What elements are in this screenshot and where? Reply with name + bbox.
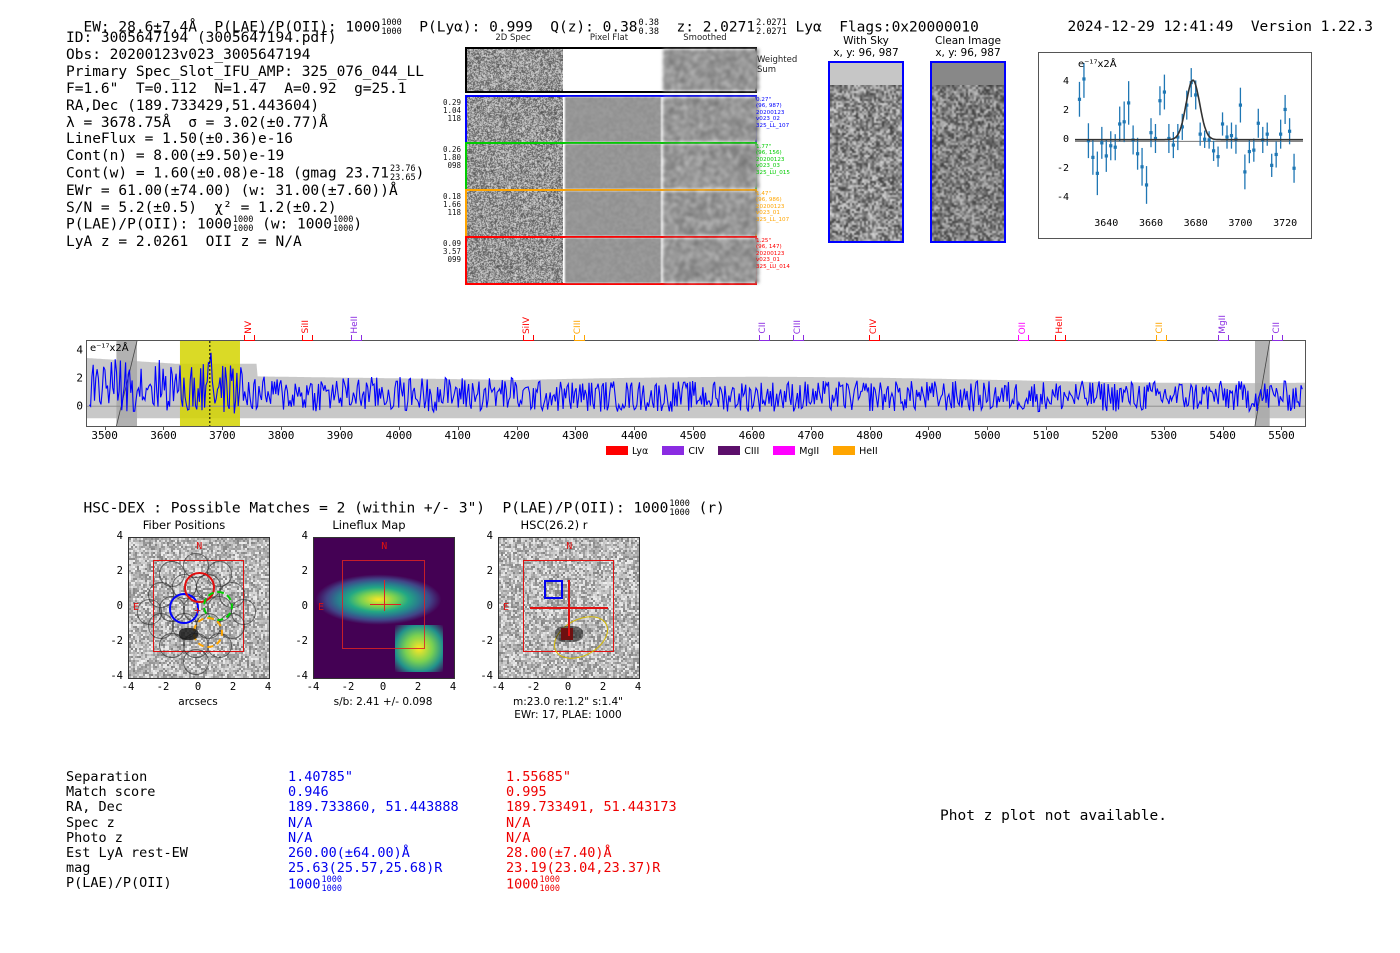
fullspec-xtick-5100: 5100 (1033, 429, 1060, 442)
linefit-xtick-3700: 3700 (1224, 218, 1256, 229)
legend-item-MgII: MgII (773, 446, 819, 457)
cutout-title-1: Clean Imagex, y: 96, 987 (918, 35, 1018, 59)
info-plae: P(LAE)/P(OII): 100010001000 (w: 10001000… (66, 216, 424, 233)
emission-line-label-MgII-11: MgII (1218, 315, 1228, 334)
match-blue-photo_z: N/A (288, 831, 312, 846)
legend-swatch-CIV (662, 446, 684, 455)
emission-line-label-CIII-4: CIII (573, 320, 583, 334)
emission-line-label-CII-10: CII (1155, 322, 1165, 334)
full-spectrum-panel: 0243500360037003800390040004100420043004… (66, 300, 1314, 460)
linefit-ytick-4: 4 (1045, 76, 1069, 87)
blue-match-marker (544, 580, 563, 599)
emission-line-tick-7 (869, 335, 880, 341)
imaging-panel-title-2: HSC(26.2) r (470, 518, 638, 532)
match-row-label-0: Separation (66, 770, 281, 785)
fullspec-xtickmark-4600 (752, 426, 753, 430)
spec2d-fiber-2-left-2: 118 (425, 209, 461, 217)
legend-swatch-CIII (718, 446, 740, 455)
emission-line-tick-1 (302, 335, 313, 341)
match-row-label-4: Photo z (66, 831, 281, 846)
legend-item-HeII: HeII (833, 446, 878, 457)
fullspec-xtick-4000: 4000 (386, 429, 413, 442)
match-blue-est_lya_ew: 260.00(±64.00)Å (288, 846, 410, 861)
info-cont-n: Cont(n) = 8.00(±9.50)e-19 (66, 148, 424, 165)
imaging-panels-row: Fiber Positions+NE-4-4-2-2002244arcsecsL… (60, 515, 680, 735)
emission-line-tick-12 (1272, 335, 1283, 341)
hsc-dex-summary: HSC-DEX : Possible Matches = 2 (within +… (66, 484, 725, 517)
imaging-panel-0[interactable]: Fiber Positions+NE-4-4-2-2002244arcsecs (100, 537, 280, 732)
fullspec-unit-label: e⁻¹⁷x2Å (90, 343, 129, 354)
match-red-plae: 100010001000 (506, 876, 560, 893)
imaging-ytick-2-1: -2 (470, 635, 493, 647)
imaging-xtick-0-4: 4 (256, 681, 280, 693)
emission-line-tick-0 (244, 335, 255, 341)
info-sn-chi2: S/N = 5.2(±0.5) χ² = 1.2(±0.2) (66, 200, 424, 217)
header-z-suffix: Lyα (796, 20, 822, 36)
cutout-title-line1-0: With Sky (816, 35, 916, 47)
linefit-unit-label: e⁻¹⁷x2Å (1078, 59, 1117, 70)
legend-swatch-MgII (773, 446, 795, 455)
spec2d-fiber-3-left-2: 099 (425, 256, 461, 264)
linefit-ytick-0: 0 (1045, 134, 1069, 145)
info-plae-pre: P(LAE)/P(OII): 1000 (66, 217, 232, 233)
info-primary-spec-slot: Primary Spec_Slot_IFU_AMP: 325_076_044_L… (66, 64, 424, 81)
imaging-panel-2[interactable]: HSC(26.2) rNE-4-4-2-2002244m:23.0 re:1.2… (470, 537, 650, 732)
imaging-panel-title-1: Lineflux Map (285, 518, 453, 532)
legend-swatch-HeII (833, 446, 855, 455)
hsc-summary-post: (r) (690, 501, 725, 517)
fullspec-xtickmark-3600 (163, 426, 164, 430)
match-red-plae-bot: 1000 (540, 884, 560, 894)
fullspec-xtickmark-4200 (517, 426, 518, 430)
weighted-sum-label: Weighted Sum (757, 55, 817, 75)
emission-line-tick-10 (1156, 335, 1167, 341)
emission-line-label-CIII-6: CIII (793, 320, 803, 334)
imaging-xtick-0-3: 2 (221, 681, 245, 693)
imaging-xtick-1-1: -2 (336, 681, 360, 693)
fullspec-xtickmark-5200 (1105, 426, 1106, 430)
emission-line-tick-11 (1218, 335, 1229, 341)
info-lambda-sigma: λ = 3678.75Å σ = 3.02(±0.77)Å (66, 115, 424, 132)
legend-item-CIV: CIV (662, 446, 704, 457)
source-info-block: ID: 3005647194 (3005647194.pdf) Obs: 202… (66, 30, 424, 251)
match-red-mag: 23.19(23.04,23.37)R (506, 861, 660, 876)
fullspec-xtick-4400: 4400 (621, 429, 648, 442)
emission-line-tick-9 (1055, 335, 1066, 341)
fullspec-xtick-3900: 3900 (327, 429, 354, 442)
legend-label-MgII: MgII (799, 446, 819, 457)
info-radec: RA,Dec (189.733429,51.443604) (66, 98, 424, 115)
spec2d-fiber-0-meta-4: 325_LL_107 (756, 123, 812, 129)
imaging-ytick-1-3: 2 (285, 565, 308, 577)
legend-item-Lyα: Lyα (606, 446, 648, 457)
emission-line-label-SiIV-3: SiIV (522, 317, 532, 334)
match-blue-match_score: 0.946 (288, 785, 329, 800)
match-row-label-6: mag (66, 861, 281, 876)
info-cont-w: Cont(w) = 1.60(±0.08)e-18 (gmag 23.7123.… (66, 165, 424, 182)
info-plae-post: ) (353, 217, 362, 233)
fullspec-xtick-4200: 4200 (503, 429, 530, 442)
imaging-ytick-0-2: 0 (100, 600, 123, 612)
info-ewr: EWr = 61.00(±74.00) (w: 31.00(±7.60))Å (66, 183, 424, 200)
fullspec-xtick-3600: 3600 (150, 429, 177, 442)
imaging-panel-title-0: Fiber Positions (100, 518, 268, 532)
imaging-panel-image-2[interactable]: NE (498, 537, 640, 679)
spec2d-fiber-metadata-0: 0.27"(96, 987)20200123v023_02325_LL_107 (756, 97, 812, 129)
fullspec-xtickmark-4800 (870, 426, 871, 430)
spec2d-fiber-row-3 (465, 236, 757, 285)
emission-line-tick-4 (574, 335, 585, 341)
match-blue-radec: 189.733860, 51.443888 (288, 800, 459, 815)
compass-north-1: N (381, 541, 387, 552)
emission-line-label-HeII-9: HeII (1055, 316, 1065, 334)
match-blue-plae: 100010001000 (288, 876, 342, 893)
spec2d-column-title-1: Pixel Flat (569, 33, 649, 43)
info-cont-w-pre: Cont(w) = 1.60(±0.08)e-18 (gmag 23.71 (66, 166, 389, 182)
fullspec-xtickmark-5300 (1164, 426, 1165, 430)
header-timestamp-version: 2024-12-29 12:41:49 Version 1.22.3 (1050, 3, 1373, 35)
imaging-panel-image-1[interactable]: NE (313, 537, 455, 679)
linefit-svg (1039, 53, 1311, 238)
imaging-xtick-2-3: 2 (591, 681, 615, 693)
emission-line-label-CIV-7: CIV (869, 319, 879, 334)
imaging-panel-1[interactable]: Lineflux MapNE-4-4-2-2002244s/b: 2.41 +/… (285, 537, 465, 732)
spec2d-fiber-leftvals-2: 0.181.66118 (425, 193, 461, 218)
imaging-caption2-2: EWr: 17, PLAE: 1000 (478, 709, 658, 722)
emission-line-tick-3 (523, 335, 534, 341)
imaging-xtick-0-2: 0 (186, 681, 210, 693)
cutout-title-line1-1: Clean Image (918, 35, 1018, 47)
emission-line-tick-8 (1018, 335, 1029, 341)
imaging-caption1-2: m:23.0 re:1.2" s:1.4" (478, 696, 658, 709)
fullspec-xtick-5000: 5000 (974, 429, 1001, 442)
fullspec-xtick-4300: 4300 (562, 429, 589, 442)
legend-label-CIV: CIV (688, 446, 704, 457)
spec2d-fiber-2-meta-4: 325_LL_107 (756, 217, 812, 223)
spec2d-fiber-row-1 (465, 142, 757, 191)
emission-line-fit-chart: -4-202436403660368037003720e⁻¹⁷x2Å (1038, 52, 1312, 239)
fullspec-xtick-4500: 4500 (680, 429, 707, 442)
fullspec-xtickmark-3700 (222, 426, 223, 430)
header-z-frac-bot: 2.0271 (756, 27, 787, 37)
linefit-xtick-3680: 3680 (1180, 218, 1212, 229)
photoz-message: Phot z plot not available. (940, 808, 1167, 824)
linefit-xtick-3720: 3720 (1269, 218, 1301, 229)
match-red-photo_z: N/A (506, 831, 530, 846)
imaging-ytick-2-3: 2 (470, 565, 493, 577)
spec2d-fiber-metadata-1: 1.77"(96, 156)20200123v023_03325_LU_015 (756, 144, 812, 176)
fullspec-ytick-4: 4 (76, 343, 83, 356)
spec2d-weighted-sum-row (465, 47, 757, 93)
imaging-xtick-1-0: -4 (301, 681, 325, 693)
image-cutouts-panel: With Skyx, y: 96, 987Clean Imagex, y: 96… (820, 33, 1025, 253)
emission-line-label-SiII-1: SiII (301, 320, 311, 334)
emission-line-tick-2 (351, 335, 362, 341)
imaging-caption1-1: s/b: 2.41 +/- 0.098 (293, 696, 473, 709)
info-plae-frac2-bot: 1000 (333, 224, 353, 234)
linefit-ytick-2: 2 (1045, 105, 1069, 116)
spec2d-fiber-3-meta-4: 325_LU_014 (756, 264, 812, 270)
imaging-xtick-0-0: -4 (116, 681, 140, 693)
fullspec-xtickmark-5000 (987, 426, 988, 430)
compass-north-0: N (196, 541, 202, 552)
match-row-label-7: P(LAE)/P(OII) (66, 876, 281, 891)
info-lineflux: LineFlux = 1.50(±0.36)e-16 (66, 131, 424, 148)
match-red-est_lya_ew: 28.00(±7.40)Å (506, 846, 612, 861)
fullspec-xtick-4100: 4100 (444, 429, 471, 442)
legend-label-Lyα: Lyα (632, 446, 648, 457)
info-redshifts: LyA z = 2.0261 OII z = N/A (66, 234, 424, 251)
legend-label-CIII: CIII (744, 446, 759, 457)
full-spectrum-plot: 0243500360037003800390040004100420043004… (86, 340, 1306, 427)
imaging-ytick-2-4: 4 (470, 530, 493, 542)
imaging-xtick-1-4: 4 (441, 681, 465, 693)
imaging-xtick-1-2: 0 (371, 681, 395, 693)
info-id: ID: 3005647194 (3005647194.pdf) (66, 30, 424, 47)
fullspec-ytick-0: 0 (76, 400, 83, 413)
spec2d-fiber-leftvals-0: 0.291.04118 (425, 99, 461, 124)
fiber-circle-17 (137, 599, 163, 625)
fullspec-xtick-4600: 4600 (739, 429, 766, 442)
imaging-xtick-2-1: -2 (521, 681, 545, 693)
fullspec-xtickmark-4700 (811, 426, 812, 430)
imaging-xlabel-0: arcsecs (128, 696, 268, 709)
fullspec-xtickmark-5400 (1223, 426, 1224, 430)
cutout-title-0: With Skyx, y: 96, 987 (816, 35, 916, 59)
info-cont-w-frac-bot: 23.65 (390, 173, 416, 183)
imaging-ytick-0-4: 4 (100, 530, 123, 542)
fullspec-xtickmark-4000 (399, 426, 400, 430)
emission-line-label-OII-8: OII (1018, 322, 1028, 334)
version: Version 1.22.3 (1251, 19, 1373, 35)
fullspec-xtickmark-4500 (693, 426, 694, 430)
compass-east-2: E (503, 602, 509, 613)
match-blue-plae-bot: 1000 (322, 884, 342, 894)
fullspec-xtick-4700: 4700 (797, 429, 824, 442)
fullspec-xtickmark-3900 (340, 426, 341, 430)
match-blue-plae-value: 1000 (288, 877, 321, 893)
imaging-ytick-2-2: 0 (470, 600, 493, 612)
fullspec-xtick-5400: 5400 (1209, 429, 1236, 442)
cutout-coords-0: x, y: 96, 987 (816, 47, 916, 59)
fullspec-xtick-4900: 4900 (915, 429, 942, 442)
match-red-radec: 189.733491, 51.443173 (506, 800, 677, 815)
fullspec-xtick-5200: 5200 (1092, 429, 1119, 442)
fullspec-xtick-4800: 4800 (856, 429, 883, 442)
emission-line-label-CII-12: CII (1272, 322, 1282, 334)
imaging-ytick-0-1: -2 (100, 635, 123, 647)
fiber-circle-19 (183, 649, 209, 675)
emission-line-tick-5 (759, 335, 770, 341)
info-obs: Obs: 20200123v023_3005647194 (66, 47, 424, 64)
compass-north-2: N (566, 541, 572, 552)
fullspec-ytick-2: 2 (76, 371, 83, 384)
spec2d-fiber-0-left-2: 118 (425, 115, 461, 123)
fullspec-xtick-3700: 3700 (209, 429, 236, 442)
compass-east-1: E (318, 602, 324, 613)
fullspec-xtickmark-4400 (634, 426, 635, 430)
match-red-plae-value: 1000 (506, 877, 539, 893)
linefit-xtick-3640: 3640 (1090, 218, 1122, 229)
match-row-label-5: Est LyA rest-EW (66, 846, 281, 861)
info-cont-w-post: ) (416, 166, 425, 182)
spec2d-fiber-leftvals-1: 0.261.80098 (425, 146, 461, 171)
cutout-image-1 (930, 61, 1006, 243)
imaging-xtick-1-3: 2 (406, 681, 430, 693)
info-plae-mid: (w: 1000 (253, 217, 332, 233)
match-blue-separation: 1.40785" (288, 770, 353, 785)
source-marker: + (194, 605, 201, 616)
fiber-circle-18 (231, 599, 257, 625)
fullspec-xtickmark-4300 (575, 426, 576, 430)
fullspec-xtickmark-5500 (1281, 426, 1282, 430)
emission-line-tick-6 (793, 335, 804, 341)
legend-swatch-Lyα (606, 446, 628, 455)
info-plae-frac-bot: 1000 (233, 224, 253, 234)
spec2d-fiber-metadata-2: 1.47"(96, 986)20200123v023_01325_LL_107 (756, 191, 812, 223)
imaging-ytick-1-1: -2 (285, 635, 308, 647)
match-red-separation: 1.55685" (506, 770, 571, 785)
fullspec-xtickmark-4100 (458, 426, 459, 430)
full-spectrum-svg (87, 341, 1305, 426)
spec2d-fiber-leftvals-3: 0.093.57099 (425, 240, 461, 265)
match-row-label-3: Spec z (66, 816, 281, 831)
match-row-label-2: RA, Dec (66, 800, 281, 815)
emission-line-label-HeII-2: HeII (350, 316, 360, 334)
info-seeing-params: F=1.6" T=0.112 N=1.47 A=0.92 g=25.1 (66, 81, 424, 98)
two-d-spectra-panel: 2D SpecPixel FlatSmoothed Weighted Sum0.… (425, 33, 755, 253)
imaging-ytick-0-3: 2 (100, 565, 123, 577)
fullspec-xtick-5300: 5300 (1151, 429, 1178, 442)
match-blue-spec_z: N/A (288, 816, 312, 831)
compass-east-0: E (133, 602, 139, 613)
emission-line-label-CII-5: CII (758, 322, 768, 334)
emission-line-label-NV-0: NV (244, 321, 254, 334)
imaging-xtick-2-0: -4 (486, 681, 510, 693)
legend-label-HeII: HeII (859, 446, 878, 457)
spec2d-fiber-row-0 (465, 95, 757, 144)
linefit-ytick--4: -4 (1045, 192, 1069, 203)
imaging-xtick-2-4: 4 (626, 681, 650, 693)
spec2d-fiber-1-left-2: 098 (425, 162, 461, 170)
imaging-ytick-1-4: 4 (285, 530, 308, 542)
linefit-ytick--2: -2 (1045, 163, 1069, 174)
imaging-ytick-1-2: 0 (285, 600, 308, 612)
legend-item-CIII: CIII (718, 446, 759, 457)
cutout-coords-1: x, y: 96, 987 (918, 47, 1018, 59)
fullspec-xtickmark-3800 (281, 426, 282, 430)
match-row-label-1: Match score (66, 785, 281, 800)
spec2d-fiber-1-meta-4: 325_LU_015 (756, 170, 812, 176)
spec2d-fiber-metadata-3: 1.25"(96, 147)20200123v023_01325_LU_014 (756, 238, 812, 270)
fullspec-xtick-3800: 3800 (268, 429, 295, 442)
linefit-xtick-3660: 3660 (1135, 218, 1167, 229)
fullspec-xtick-3500: 3500 (91, 429, 118, 442)
spec2d-column-title-0: 2D Spec (473, 33, 553, 43)
fullspec-xtickmark-4900 (928, 426, 929, 430)
imaging-xtick-2-2: 0 (556, 681, 580, 693)
spectrum-legend: LyαCIVCIIIMgIIHeII (606, 446, 892, 457)
cutout-image-0 (828, 61, 904, 243)
match-red-match_score: 0.995 (506, 785, 547, 800)
timestamp: 2024-12-29 12:41:49 (1067, 19, 1233, 35)
imaging-xtick-0-1: -2 (151, 681, 175, 693)
fullspec-xtick-5500: 5500 (1268, 429, 1295, 442)
fullspec-xtickmark-5100 (1046, 426, 1047, 430)
spec2d-column-title-2: Smoothed (665, 33, 745, 43)
match-blue-mag: 25.63(25.57,25.68)R (288, 861, 442, 876)
imaging-panel-image-0[interactable]: +NE (128, 537, 270, 679)
fullspec-xtickmark-3500 (105, 426, 106, 430)
spec2d-fiber-row-2 (465, 189, 757, 238)
match-red-spec_z: N/A (506, 816, 530, 831)
